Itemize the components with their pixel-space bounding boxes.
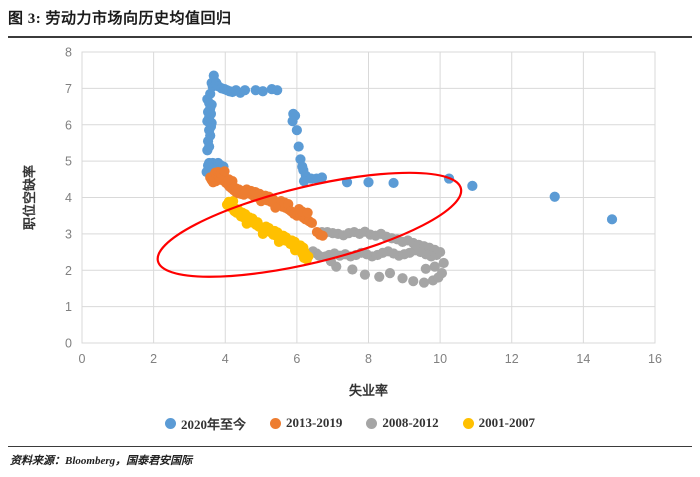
y-axis-tick-label: 2 [65, 264, 72, 278]
legend-dot-icon [165, 418, 176, 429]
x-axis-tick-label: 16 [648, 352, 662, 366]
y-axis-tick-label: 7 [65, 82, 72, 96]
y-axis-tick-label: 6 [65, 118, 72, 132]
data-point [272, 85, 282, 95]
data-point [219, 166, 229, 176]
data-point [374, 272, 384, 282]
x-axis-tick-label: 2 [150, 352, 157, 366]
x-axis-tick-label: 6 [293, 352, 300, 366]
y-axis-tick-label: 3 [65, 227, 72, 241]
data-point [439, 258, 449, 268]
x-axis-tick-label: 8 [365, 352, 372, 366]
legend-item-label: 2013-2019 [286, 415, 342, 431]
data-point [270, 203, 280, 213]
data-point [287, 116, 297, 126]
legend-dot-icon [463, 418, 474, 429]
x-axis-tick-label: 4 [222, 352, 229, 366]
data-point [258, 229, 268, 239]
data-point [388, 178, 398, 188]
page-title: 图 3: 劳动力市场向历史均值回归 [8, 8, 692, 30]
data-point [292, 125, 302, 135]
y-axis-tick-label: 5 [65, 155, 72, 169]
y-axis-tick-label: 4 [65, 191, 72, 205]
data-point [258, 86, 268, 96]
source-note: 资料来源：Bloomberg，国泰君安国际 [10, 452, 192, 468]
data-point [360, 270, 370, 280]
y-axis-title: 职位空缺率 [22, 165, 37, 230]
data-point [408, 276, 418, 286]
data-point [467, 181, 477, 191]
legend-dot-icon [270, 418, 281, 429]
data-point [550, 192, 560, 202]
scatter-plot: 0123456780246810121416失业率职位空缺率 [0, 40, 700, 440]
x-axis-title: 失业率 [349, 383, 388, 398]
legend-item-label: 2001-2007 [479, 415, 535, 431]
chart-canvas: 0123456780246810121416失业率职位空缺率 [0, 40, 700, 440]
header-divider [8, 36, 692, 38]
x-axis-tick-label: 0 [79, 352, 86, 366]
figure-header: 图 3: 劳动力市场向历史均值回归 [8, 8, 692, 38]
x-axis-tick-label: 14 [576, 352, 590, 366]
figure-container: 图 3: 劳动力市场向历史均值回归 0123456780246810121416… [0, 0, 700, 477]
data-point [363, 177, 373, 187]
data-point [430, 262, 440, 272]
data-point [303, 208, 313, 218]
legend-item-label: 2020年至今 [181, 414, 246, 433]
data-point [240, 85, 250, 95]
data-point [421, 264, 431, 274]
data-point [385, 268, 395, 278]
data-point [242, 219, 252, 229]
data-point [274, 237, 284, 247]
legend-dot-icon [366, 418, 377, 429]
data-point [307, 218, 317, 228]
legend-item-2013-2019[interactable]: 2013-2019 [270, 415, 342, 431]
x-axis-tick-label: 10 [433, 352, 447, 366]
y-axis-tick-label: 0 [65, 337, 72, 351]
data-point [607, 214, 617, 224]
chart-legend: 2020年至今2013-20192008-20122001-2007 [0, 411, 700, 435]
data-point [297, 248, 307, 258]
legend-item-2008-2012[interactable]: 2008-2012 [366, 415, 438, 431]
data-point [314, 251, 324, 261]
footer-divider [8, 446, 692, 447]
data-point [397, 273, 407, 283]
y-axis-tick-label: 8 [65, 46, 72, 60]
legend-item-2001-2007[interactable]: 2001-2007 [463, 415, 535, 431]
legend-item-2020[interactable]: 2020年至今 [165, 414, 246, 433]
data-point [299, 176, 309, 186]
data-point [347, 264, 357, 274]
data-point [297, 161, 307, 171]
legend-item-label: 2008-2012 [382, 415, 438, 431]
data-point [318, 231, 328, 241]
x-axis-tick-label: 12 [505, 352, 519, 366]
data-point [419, 278, 429, 288]
data-point [294, 141, 304, 151]
y-axis-tick-label: 1 [65, 300, 72, 314]
